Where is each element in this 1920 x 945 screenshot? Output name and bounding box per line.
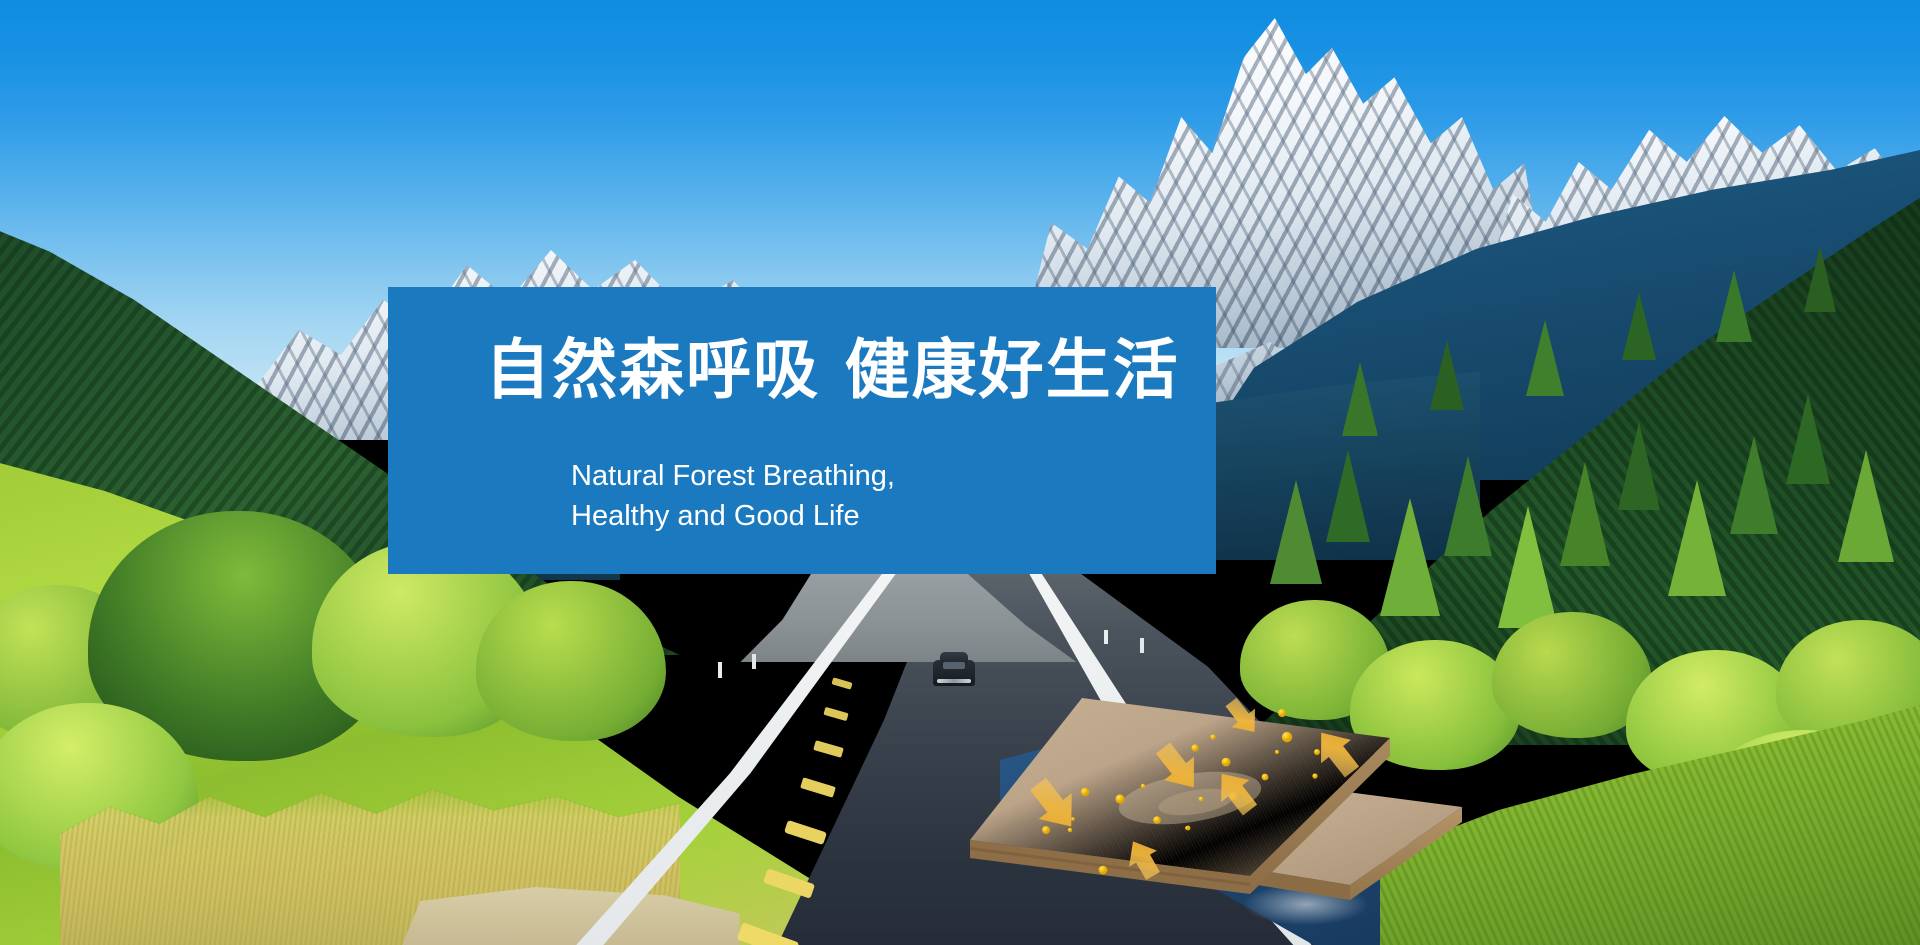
guard-post xyxy=(752,654,756,669)
conifer-tree xyxy=(1716,270,1752,342)
headline-panel: 自然森呼吸 健康好生活 Natural Forest Breathing, He… xyxy=(388,287,1216,574)
subtitle-line-2: Healthy and Good Life xyxy=(571,496,895,536)
hero-banner: 自然森呼吸 健康好生活 Natural Forest Breathing, He… xyxy=(0,0,1920,945)
conifer-tree xyxy=(1342,362,1378,436)
subtitle-line-1: Natural Forest Breathing, xyxy=(571,456,895,496)
conifer-tree xyxy=(1804,246,1836,312)
conifer-tree xyxy=(1526,320,1564,396)
guard-post xyxy=(718,662,722,678)
guard-post xyxy=(1104,630,1108,644)
road-dash xyxy=(763,868,815,898)
page-subtitle: Natural Forest Breathing, Healthy and Go… xyxy=(571,456,895,536)
wood-plank-graphic xyxy=(960,680,1470,945)
road-dash xyxy=(813,740,844,758)
road-dash xyxy=(737,922,800,945)
guard-post xyxy=(1140,638,1144,653)
conifer-tree xyxy=(1622,292,1656,360)
plank-svg xyxy=(960,680,1470,945)
page-title: 自然森呼吸 健康好生活 xyxy=(485,335,1180,408)
road-dash xyxy=(784,820,827,845)
conifer-tree xyxy=(1430,340,1464,410)
road-dash xyxy=(800,777,836,797)
